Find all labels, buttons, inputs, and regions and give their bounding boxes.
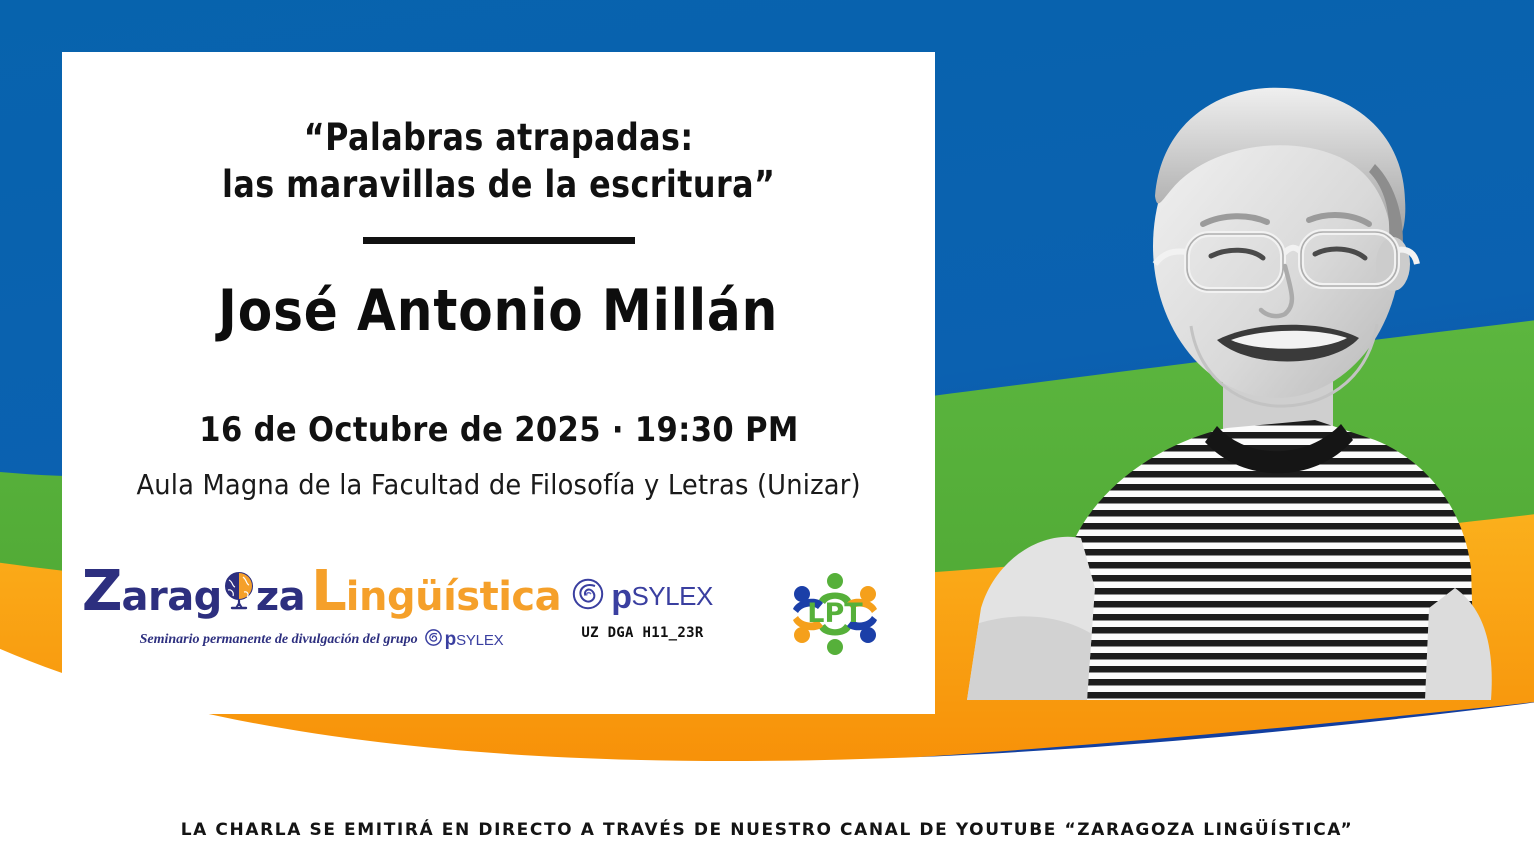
- globe-icon: [223, 570, 255, 610]
- broadcast-footer-note: LA CHARLA SE EMITIRÁ EN DIRECTO A TRAVÉS…: [0, 820, 1534, 840]
- zl-letter-l: L: [311, 564, 346, 620]
- psylex-letters-rest: SYLEX: [631, 581, 712, 611]
- logo-psylex: pSYLEX UZ DGA H11_23R: [559, 564, 727, 641]
- tagline-text: Seminario permanente de divulgación del …: [140, 632, 418, 648]
- psylex-wordmark: pSYLEX: [611, 580, 713, 614]
- sponsor-logos-row: Z arag: [62, 564, 935, 663]
- zl-text-arag: arag: [121, 577, 221, 617]
- speaker-portrait-photo: [955, 68, 1515, 700]
- zaragoza-linguistica-wordmark: Z arag: [141, 564, 503, 620]
- poster-content-card: “Palabras atrapadas: las maravillas de l…: [62, 52, 935, 714]
- speaker-name: José Antonio Millán: [218, 278, 778, 344]
- zl-text-inguistica: ingüística: [346, 577, 561, 617]
- event-poster: “Palabras atrapadas: las maravillas de l…: [0, 0, 1534, 862]
- psylex-mini-rest: SYLEX: [456, 632, 503, 649]
- event-date-time: 16 de Octubre de 2025 · 19:30 PM: [199, 410, 798, 450]
- lpt-letters: LPT: [807, 598, 863, 629]
- zaragoza-linguistica-tagline: Seminario permanente de divulgación del …: [141, 629, 503, 651]
- psylex-swirl-icon: [425, 629, 442, 651]
- psylex-swirl-icon: [572, 578, 604, 615]
- zl-text-za: za: [256, 577, 305, 617]
- zl-letter-z: Z: [82, 564, 122, 620]
- logo-lpt: LPT: [783, 564, 887, 663]
- lpt-people-icon: LPT: [783, 568, 887, 658]
- event-venue: Aula Magna de la Facultad de Filosofía y…: [136, 468, 860, 501]
- talk-title: “Palabras atrapadas: las maravillas de l…: [222, 114, 775, 209]
- title-divider: [363, 237, 635, 244]
- psylex-mini-wordmark: pSYLEX: [445, 629, 504, 651]
- psylex-mini-logo: pSYLEX: [425, 629, 504, 651]
- logo-zaragoza-linguistica: Z arag: [141, 564, 503, 651]
- psylex-mini-p: p: [445, 629, 456, 650]
- psylex-letter-p: p: [611, 578, 631, 616]
- psylex-wordmark-row: pSYLEX: [559, 578, 727, 615]
- psylex-project-code: UZ DGA H11_23R: [559, 625, 727, 641]
